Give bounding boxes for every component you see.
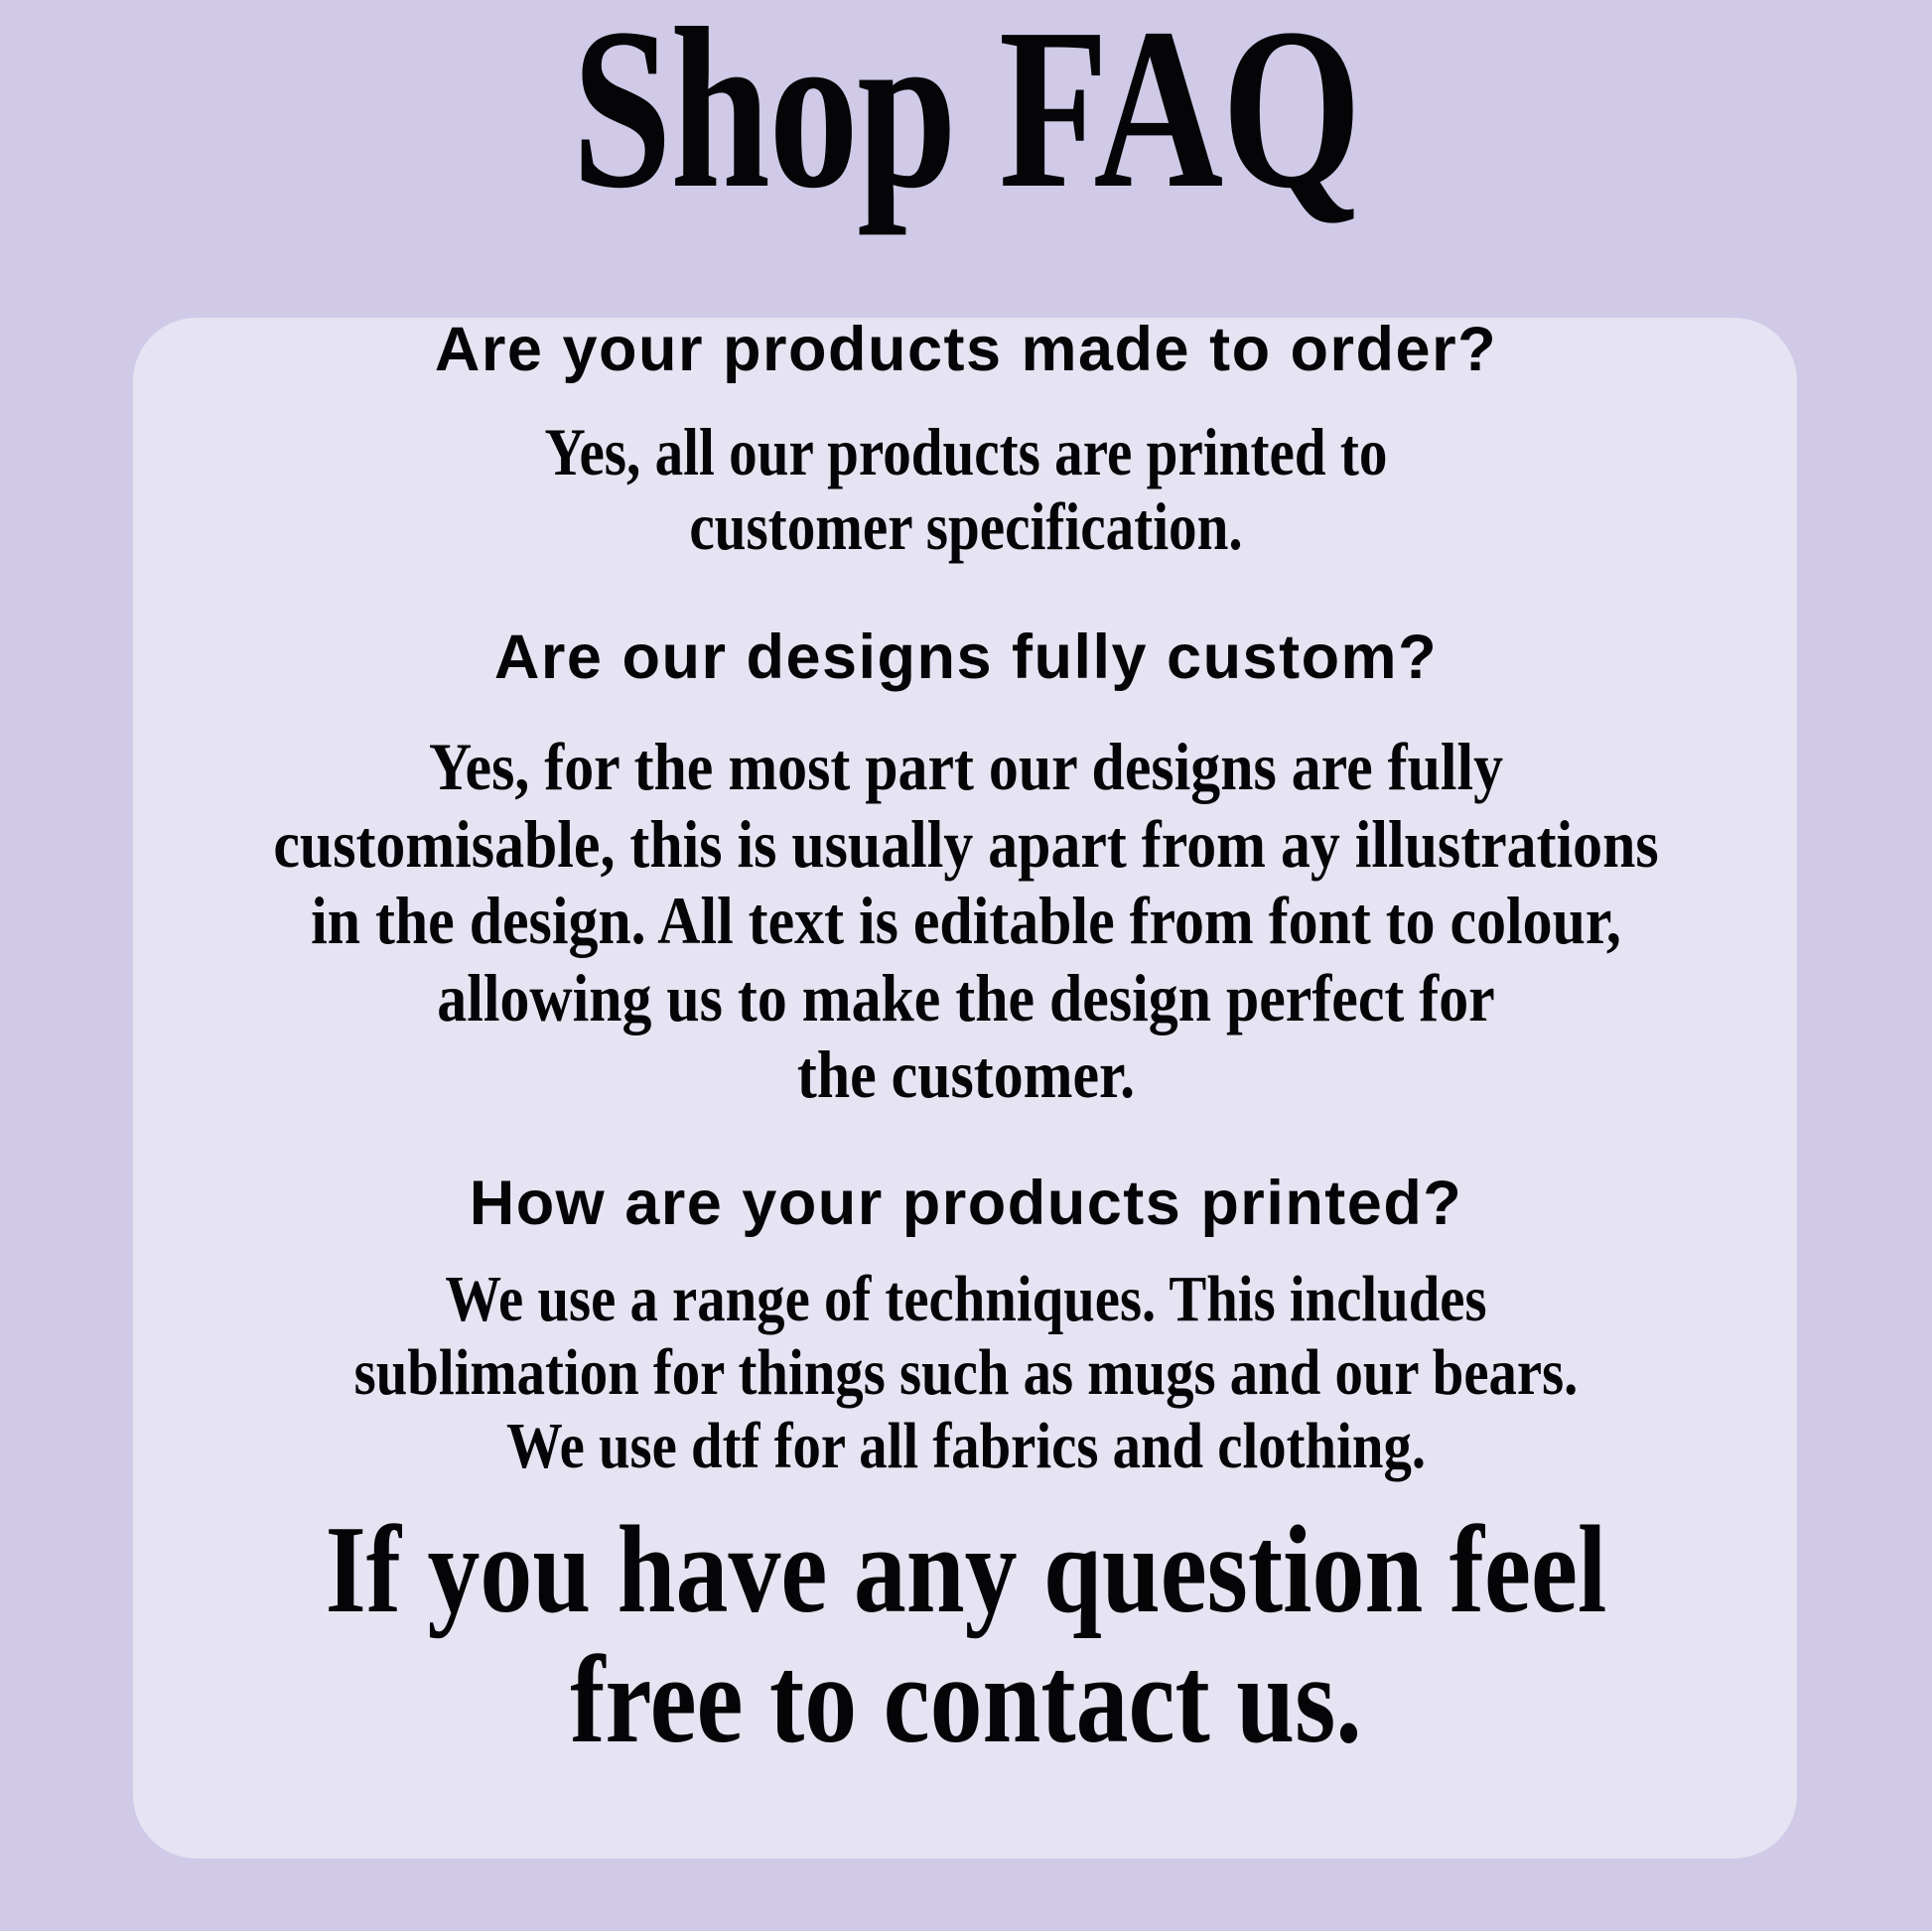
faq-answer-3: We use a range of techniques. This inclu… [135,1235,1797,1483]
page-title: Shop FAQ [212,0,1720,224]
faq-poster: Shop FAQ Are your products made to order… [0,0,1932,1931]
faq-answer-2: Yes, for the most part our designs are f… [116,689,1816,1114]
faq-question-1: Are your products made to order? [0,318,1932,381]
faq-item-1: Are your products made to order? Yes, al… [0,318,1932,564]
closing-call-to-action: If you have any question feel free to co… [155,1483,1778,1765]
faq-content: Are your products made to order? Yes, al… [0,318,1932,1765]
faq-question-3: How are your products printed? [0,1172,1932,1235]
faq-item-2: Are our designs fully custom? Yes, for t… [0,564,1932,1114]
faq-item-3: How are your products printed? We use a … [0,1114,1932,1483]
faq-question-2: Are our designs fully custom? [0,625,1932,689]
faq-answer-1: Yes, all our products are printed to cus… [155,381,1778,564]
